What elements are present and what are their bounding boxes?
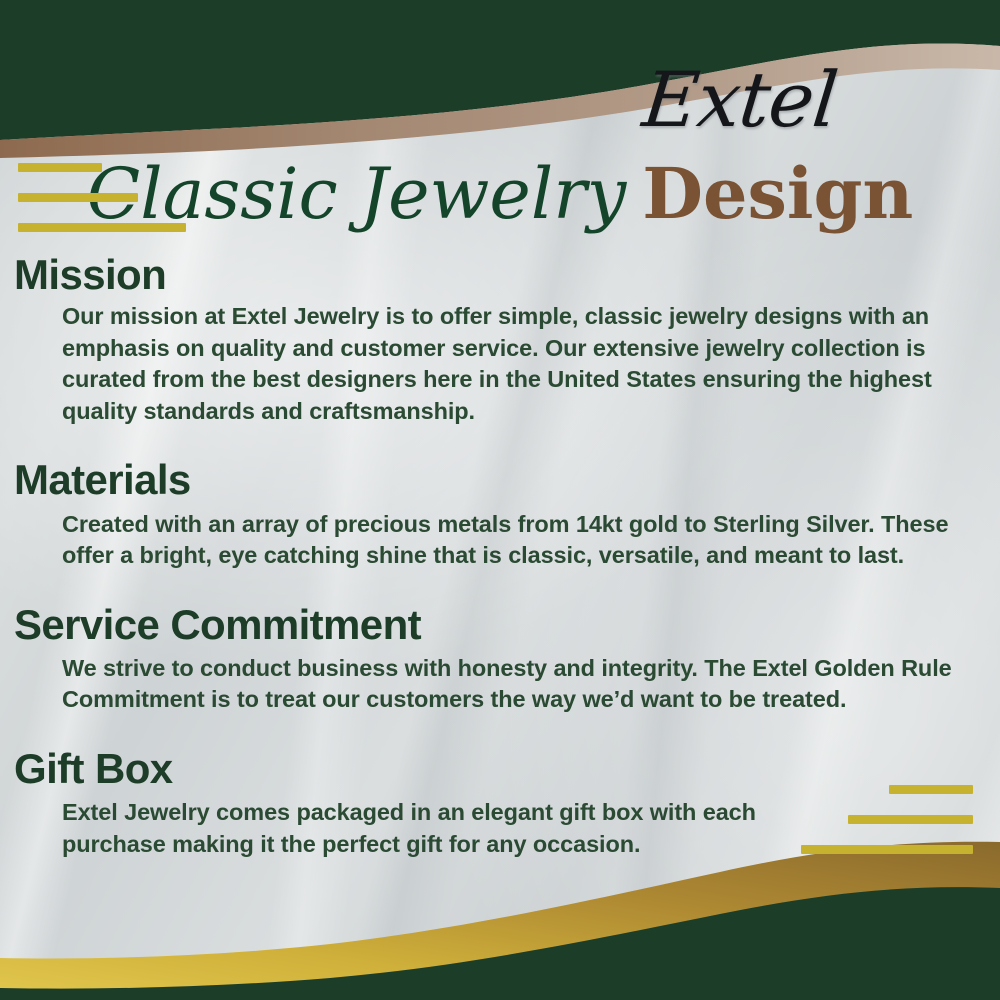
section-heading-service-commitment: Service Commitment [14,602,1000,647]
section-heading-mission: Mission [14,252,1000,297]
section-body-mission: Our mission at Extel Jewelry is to offer… [62,301,1000,427]
section-body-service-commitment: We strive to conduct business with hones… [62,653,1000,716]
section-heading-materials: Materials [14,457,1000,502]
section-mission: Mission Our mission at Extel Jewelry is … [0,252,1000,427]
section-materials: Materials Created with an array of preci… [0,457,1000,571]
poster-canvas: Extel Classic JewelryDesign Mission Our … [0,0,1000,1000]
page-title-secondary: Design [642,152,913,235]
section-gift-box: Gift Box Extel Jewelry comes packaged in… [0,746,1000,860]
decorative-rules-top-left [18,163,186,253]
content-body: Mission Our mission at Extel Jewelry is … [0,252,1000,884]
brand-logo: Extel [596,60,884,140]
section-body-gift-box: Extel Jewelry comes packaged in an elega… [62,797,1000,860]
gold-rule-short [18,163,102,172]
section-heading-gift-box: Gift Box [14,746,1000,791]
gold-rule-long [18,223,186,232]
gold-rule-medium [18,193,138,202]
section-service-commitment: Service Commitment We strive to conduct … [0,602,1000,716]
section-body-materials: Created with an array of precious metals… [62,509,1000,572]
